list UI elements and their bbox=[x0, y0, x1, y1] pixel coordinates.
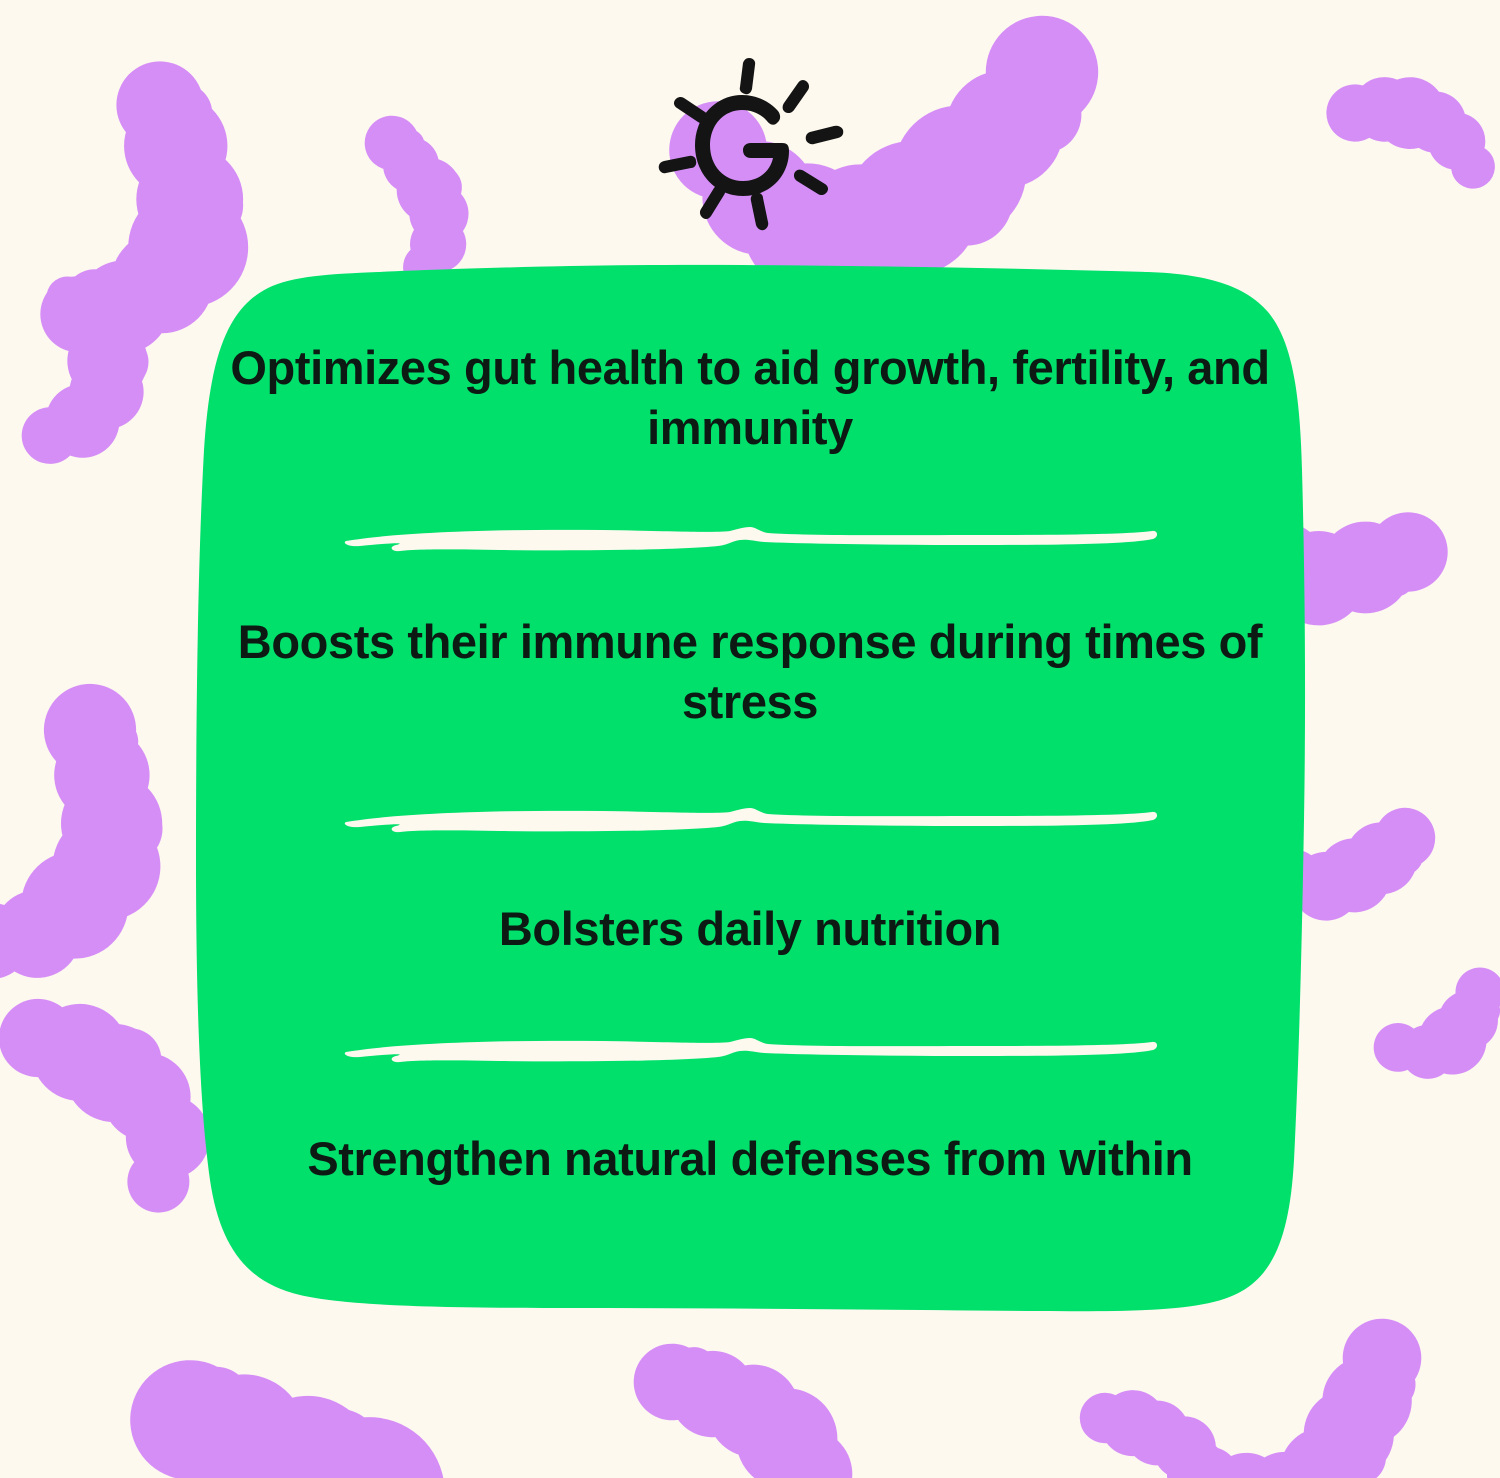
divider-2 bbox=[340, 801, 1160, 835]
blob-top-left-small bbox=[309, 105, 510, 302]
benefit-item-gut-health: Optimizes gut health to aid growth, fert… bbox=[230, 338, 1270, 458]
blob-left-upper bbox=[0, 257, 189, 483]
divider-wrap-1 bbox=[230, 520, 1270, 554]
poster-canvas: Optimizes gut health to aid growth, fert… bbox=[0, 0, 1500, 1478]
blob-left-lower bbox=[0, 988, 232, 1221]
blob-left-mid bbox=[0, 668, 223, 1011]
blob-top-far-right bbox=[1319, 49, 1500, 225]
divider-1 bbox=[340, 520, 1160, 554]
benefit-item-daily-nutrition: Bolsters daily nutrition bbox=[230, 899, 1270, 959]
divider-wrap-3 bbox=[230, 1031, 1270, 1065]
blob-bottom-center bbox=[620, 1341, 861, 1478]
divider-3 bbox=[340, 1031, 1160, 1065]
benefits-list: Optimizes gut health to aid growth, fert… bbox=[230, 300, 1270, 1290]
benefit-item-immune-response: Boosts their immune response during time… bbox=[230, 612, 1270, 732]
blob-right-mid-small bbox=[1368, 945, 1500, 1094]
blob-bottom-right bbox=[1171, 1279, 1431, 1478]
logo-letter-g bbox=[695, 95, 789, 196]
blob-bottom-left-big bbox=[89, 1352, 529, 1478]
sun-g-logo bbox=[645, 52, 855, 237]
benefit-item-natural-defenses: Strengthen natural defenses from within bbox=[230, 1129, 1270, 1189]
divider-wrap-2 bbox=[230, 801, 1270, 835]
blob-bottom-mid bbox=[1076, 1388, 1233, 1478]
